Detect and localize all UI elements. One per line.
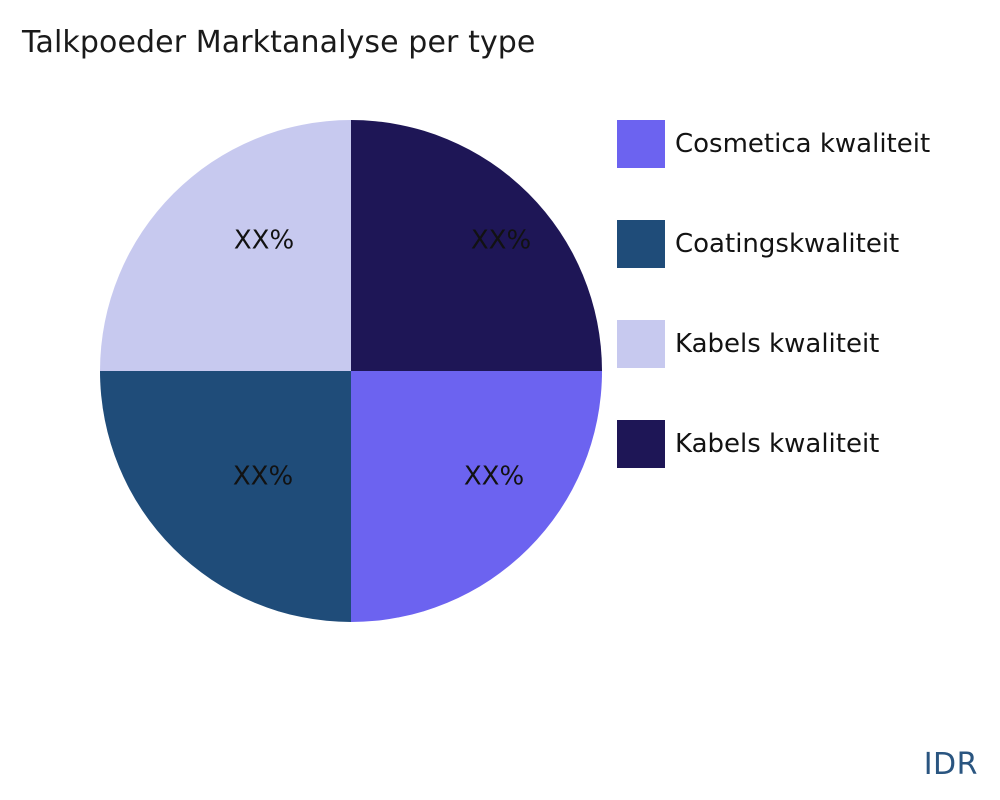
pie-svg: XX%XX%XX%XX% — [100, 120, 602, 622]
pie-slice-group — [100, 120, 602, 622]
legend-color-swatch — [617, 320, 665, 368]
idr-watermark: IDR — [924, 747, 978, 782]
legend-item[interactable]: Coatingskwaliteit — [617, 220, 987, 268]
legend-color-swatch — [617, 420, 665, 468]
legend-item[interactable]: Cosmetica kwaliteit — [617, 120, 987, 168]
legend-item-label: Kabels kwaliteit — [675, 320, 879, 368]
pie-slice-label: XX% — [464, 462, 524, 492]
chart-title: Talkpoeder Marktanalyse per type — [22, 25, 536, 61]
legend-item-label: Kabels kwaliteit — [675, 420, 879, 468]
legend-item[interactable]: Kabels kwaliteit — [617, 320, 987, 368]
chart-legend: Cosmetica kwaliteitCoatingskwaliteitKabe… — [617, 120, 987, 520]
legend-color-swatch — [617, 120, 665, 168]
bottom-left-slice[interactable] — [100, 371, 351, 622]
pie-slice-label: XX% — [471, 226, 531, 256]
legend-color-swatch — [617, 220, 665, 268]
legend-item-label: Cosmetica kwaliteit — [675, 120, 930, 168]
top-left-slice[interactable] — [100, 120, 351, 371]
bottom-right-slice[interactable] — [351, 371, 602, 622]
pie-plot-area: XX%XX%XX%XX% — [100, 120, 602, 622]
pie-slice-label: XX% — [233, 462, 293, 492]
legend-item[interactable]: Kabels kwaliteit — [617, 420, 987, 468]
legend-item-label: Coatingskwaliteit — [675, 220, 899, 268]
pie-chart-figure: Talkpoeder Marktanalyse per type XX%XX%X… — [0, 0, 1000, 800]
pie-slice-label: XX% — [234, 226, 294, 256]
